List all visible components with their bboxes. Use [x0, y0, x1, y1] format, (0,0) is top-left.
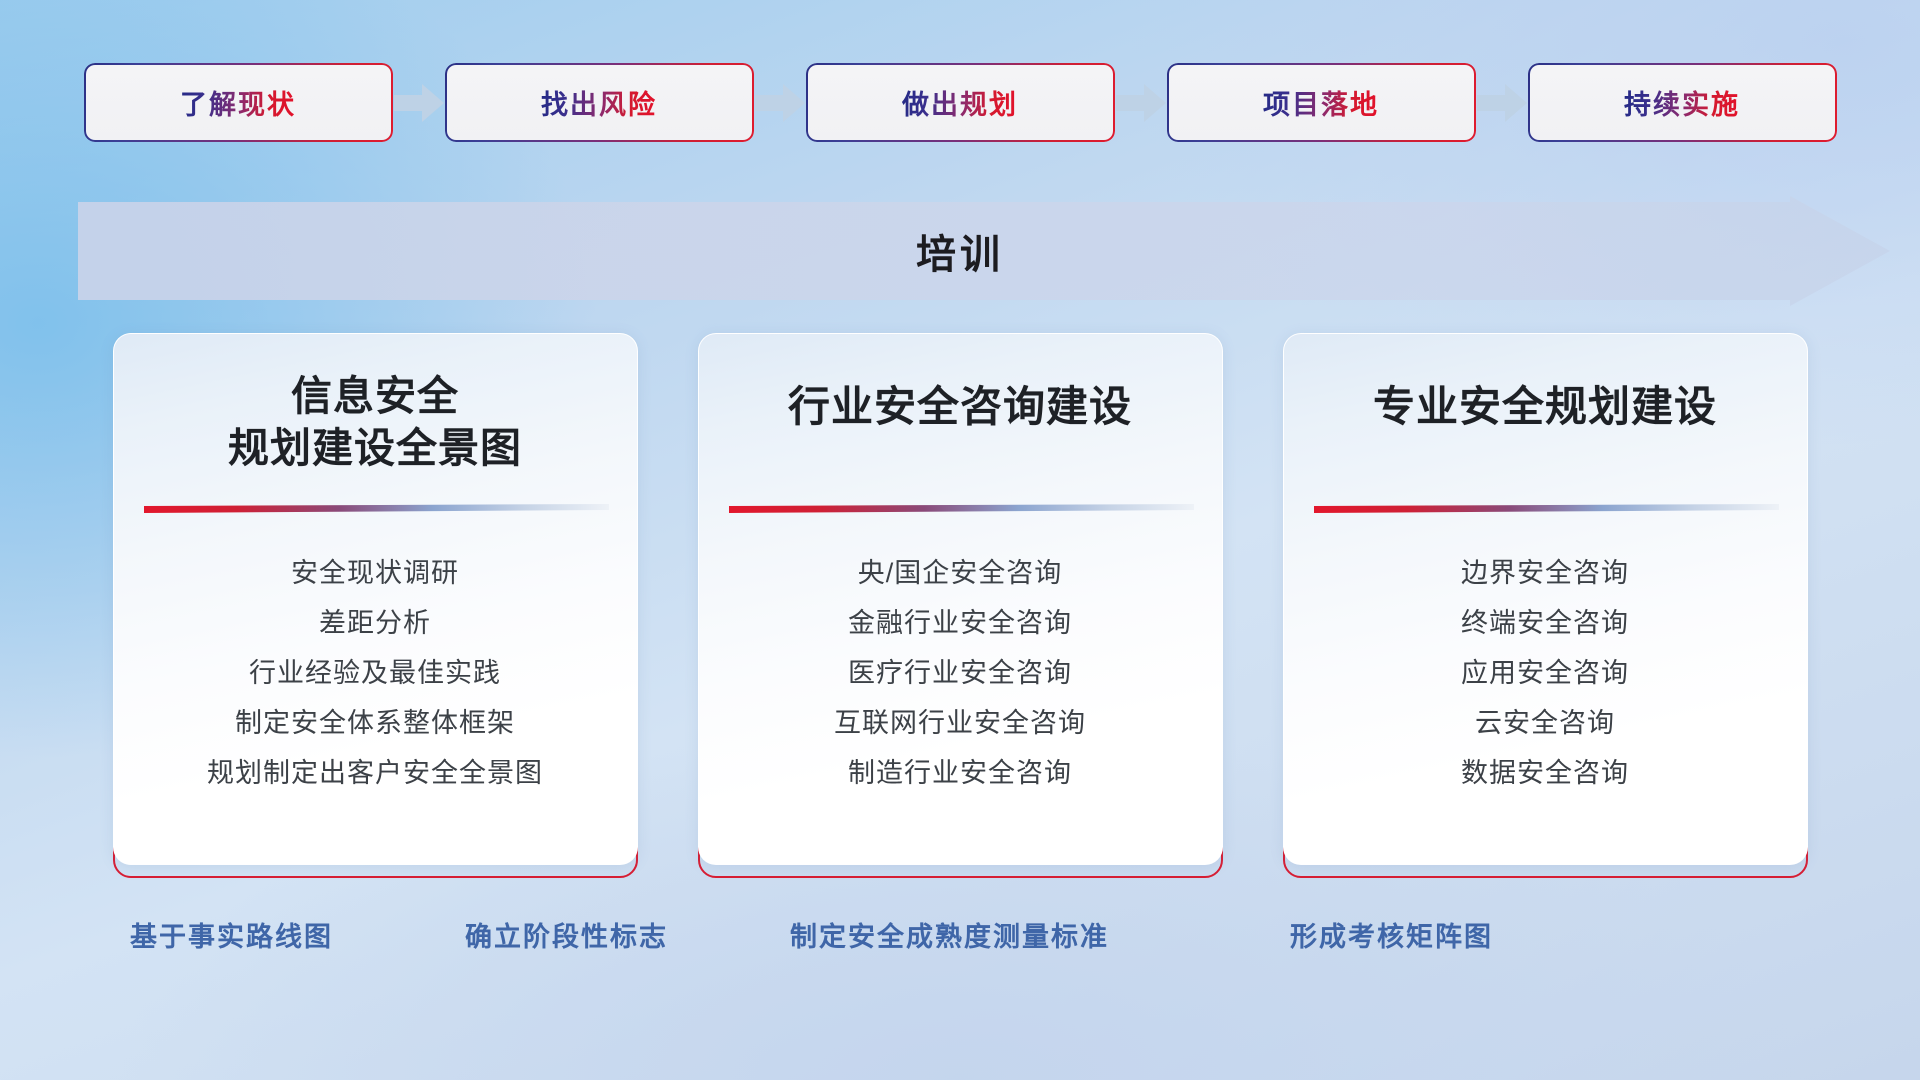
step-label: 做出规划 — [902, 83, 1018, 122]
step-box-5[interactable]: 持续实施 — [1530, 65, 1835, 140]
step-box-2[interactable]: 找出风险 — [447, 65, 752, 140]
card-item-list: 边界安全咨询 终端安全咨询 应用安全咨询 云安全咨询 数据安全咨询 — [1284, 552, 1807, 795]
list-item: 云安全咨询 — [1475, 702, 1615, 744]
card-professional-security-planning[interactable]: 专业安全规划建设 — [1283, 333, 1808, 865]
bottom-label-2: 制定安全成熟度测量标准 — [790, 915, 1109, 954]
list-item: 金融行业安全咨询 — [848, 602, 1072, 644]
card-divider — [144, 504, 609, 513]
arrow-right-icon — [392, 81, 446, 125]
bottom-label-3: 形成考核矩阵图 — [1290, 915, 1493, 954]
list-item: 央/国企安全咨询 — [858, 552, 1063, 594]
card-divider — [1314, 504, 1779, 513]
list-item: 制定安全体系整体框架 — [235, 702, 515, 744]
list-item: 制造行业安全咨询 — [848, 752, 1072, 794]
banner-title: 培训 — [0, 196, 1920, 306]
step-label: 了解现状 — [180, 83, 296, 122]
card-title-line-1: 行业安全咨询建设 — [788, 380, 1132, 434]
list-item: 终端安全咨询 — [1461, 602, 1629, 644]
step-label: 找出风险 — [541, 83, 657, 122]
arrow-right-icon — [753, 81, 807, 125]
card-title-line-1: 信息安全 — [228, 370, 522, 422]
card-title-line-1: 专业安全规划建设 — [1373, 380, 1717, 434]
arrow-right-icon — [1475, 81, 1529, 125]
bottom-label-0: 基于事实路线图 — [130, 915, 333, 954]
list-item: 安全现状调研 — [291, 552, 459, 594]
process-step-row: 了解现状 找出风险 做出规划 项目落地 持续实施 — [0, 60, 1920, 145]
step-box-3[interactable]: 做出规划 — [808, 65, 1113, 140]
step-label: 项目落地 — [1263, 83, 1379, 122]
list-item: 边界安全咨询 — [1461, 552, 1629, 594]
card-title-line-2: 规划建设全景图 — [228, 422, 522, 474]
card-title: 专业安全规划建设 — [1355, 380, 1735, 434]
training-banner: 培训 — [0, 196, 1920, 306]
card-title: 行业安全咨询建设 — [770, 380, 1150, 434]
card-divider — [729, 504, 1194, 513]
arrow-right-icon — [1114, 81, 1168, 125]
step-label: 持续实施 — [1624, 83, 1740, 122]
list-item: 医疗行业安全咨询 — [848, 652, 1072, 694]
list-item: 应用安全咨询 — [1461, 652, 1629, 694]
step-box-4[interactable]: 项目落地 — [1169, 65, 1474, 140]
list-item: 数据安全咨询 — [1461, 752, 1629, 794]
list-item: 规划制定出客户安全全景图 — [207, 752, 543, 794]
card-item-list: 安全现状调研 差距分析 行业经验及最佳实践 制定安全体系整体框架 规划制定出客户… — [114, 552, 637, 795]
card-slot-3: 专业安全规划建设 — [1283, 333, 1808, 878]
bottom-label-row: 基于事实路线图 确立阶段性标志 制定安全成熟度测量标准 形成考核矩阵图 — [0, 915, 1920, 965]
card-industry-security-consulting[interactable]: 行业安全咨询建设 — [698, 333, 1223, 865]
list-item: 差距分析 — [319, 602, 431, 644]
card-row: 信息安全 规划建设全景图 — [0, 333, 1920, 873]
card-slot-1: 信息安全 规划建设全景图 — [113, 333, 638, 878]
card-slot-2: 行业安全咨询建设 — [698, 333, 1223, 878]
card-title: 信息安全 规划建设全景图 — [210, 370, 540, 475]
bottom-label-1: 确立阶段性标志 — [465, 915, 668, 954]
card-information-security-blueprint[interactable]: 信息安全 规划建设全景图 — [113, 333, 638, 865]
list-item: 互联网行业安全咨询 — [834, 702, 1086, 744]
step-box-1[interactable]: 了解现状 — [86, 65, 391, 140]
list-item: 行业经验及最佳实践 — [249, 652, 501, 694]
card-item-list: 央/国企安全咨询 金融行业安全咨询 医疗行业安全咨询 互联网行业安全咨询 制造行… — [699, 552, 1222, 795]
